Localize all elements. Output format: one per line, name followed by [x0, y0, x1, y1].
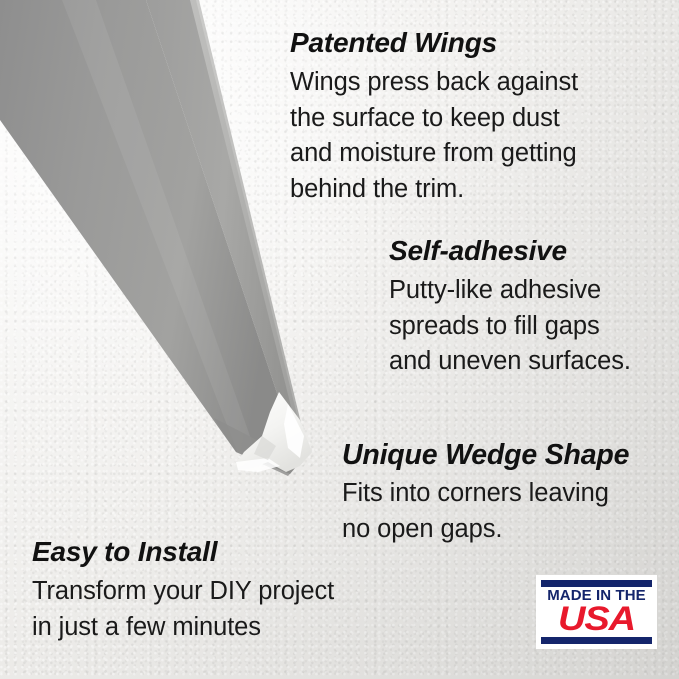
- product-photo-wedge-trim: [0, 0, 340, 500]
- feature-body-easy-to-install: Transform your DIY project in just a few…: [32, 574, 334, 645]
- infographic-canvas: Patented Wings Wings press back against …: [0, 0, 679, 679]
- feature-heading-unique-wedge-shape: Unique Wedge Shape: [342, 440, 629, 470]
- feature-heading-self-adhesive: Self-adhesive: [389, 236, 631, 266]
- feature-block-unique-wedge-shape: Unique Wedge Shape Fits into corners lea…: [342, 440, 629, 547]
- feature-body-line: no open gaps.: [342, 512, 629, 548]
- feature-body-patented-wings: Wings press back against the surface to …: [290, 65, 578, 207]
- feature-body-line: behind the trim.: [290, 172, 578, 208]
- feature-body-line: Transform your DIY project: [32, 574, 334, 610]
- feature-block-patented-wings: Patented Wings Wings press back against …: [290, 28, 578, 207]
- badge-top-bar: [541, 580, 652, 587]
- wedge-trim-illustration: [0, 0, 340, 500]
- feature-body-line: Fits into corners leaving: [342, 476, 629, 512]
- feature-heading-patented-wings: Patented Wings: [290, 28, 578, 58]
- feature-body-line: Wings press back against: [290, 65, 578, 101]
- badge-usa-text: USA: [534, 603, 658, 636]
- feature-block-self-adhesive: Self-adhesive Putty-like adhesive spread…: [389, 236, 631, 380]
- feature-body-line: in just a few minutes: [32, 610, 334, 646]
- feature-body-self-adhesive: Putty-like adhesive spreads to fill gaps…: [389, 273, 631, 380]
- feature-block-easy-to-install: Easy to Install Transform your DIY proje…: [32, 537, 334, 645]
- feature-body-line: spreads to fill gaps: [389, 309, 631, 345]
- feature-heading-easy-to-install: Easy to Install: [32, 537, 334, 567]
- feature-body-line: Putty-like adhesive: [389, 273, 631, 309]
- feature-body-line: and moisture from getting: [290, 136, 578, 172]
- feature-body-line: and uneven surfaces.: [389, 344, 631, 380]
- feature-body-unique-wedge-shape: Fits into corners leaving no open gaps.: [342, 476, 629, 547]
- made-in-usa-badge: MADE IN THE USA: [536, 575, 657, 649]
- feature-body-line: the surface to keep dust: [290, 101, 578, 137]
- badge-bottom-bar: [541, 637, 652, 644]
